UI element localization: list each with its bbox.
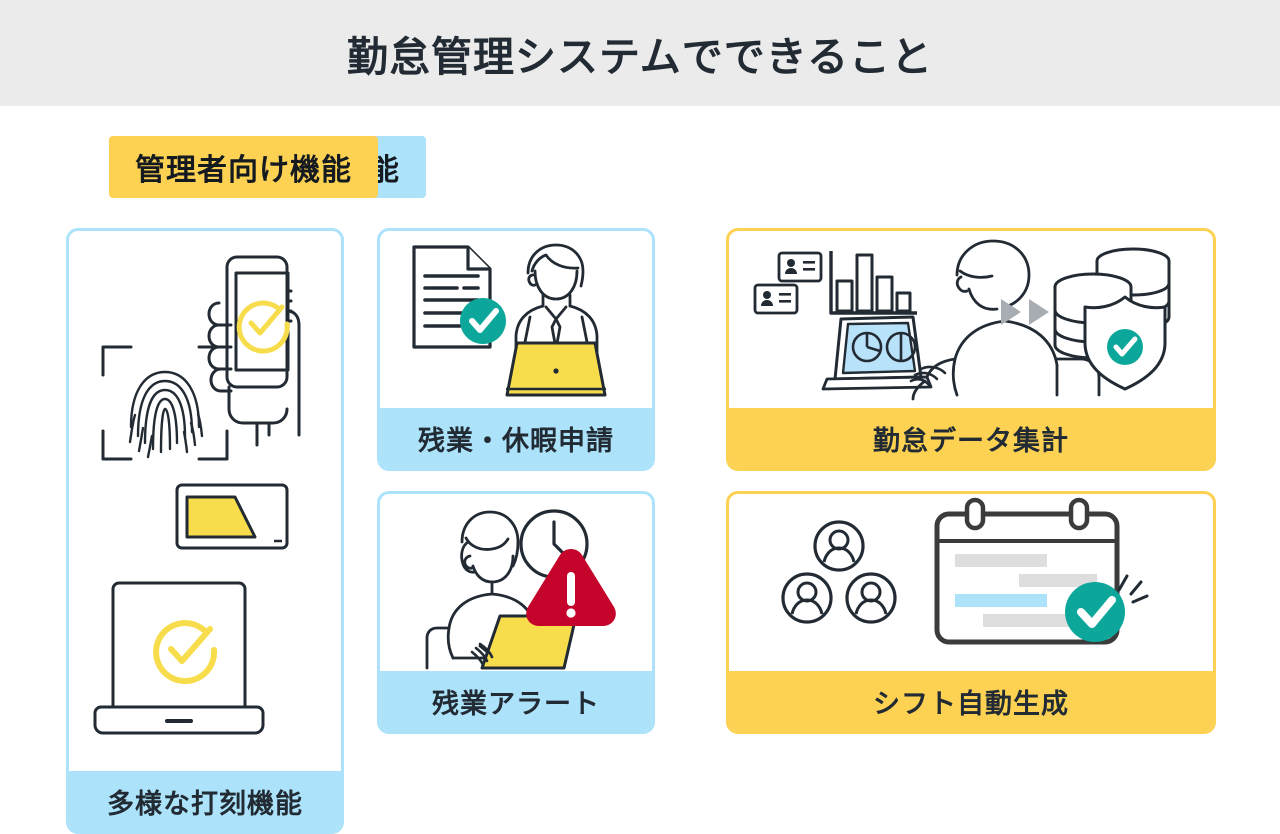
- card-label-shift: シフト自動生成: [729, 671, 1213, 731]
- feature-card-request[interactable]: 残業・休暇申請: [377, 228, 655, 471]
- section-header-admin: 管理者向け機能: [109, 136, 378, 198]
- card-label-punch: 多様な打刻機能: [69, 771, 341, 831]
- feature-board: 従業員向け機能 管理者向け機能: [0, 106, 1280, 760]
- feature-card-shift[interactable]: シフト自動生成: [726, 491, 1216, 734]
- card-label-alert: 残業アラート: [380, 671, 652, 731]
- card-label-request: 残業・休暇申請: [380, 408, 652, 468]
- request-illustration-svg: [380, 231, 652, 408]
- card-illustration-shift: [729, 494, 1213, 671]
- page-header: 勤怠管理システムでできること: [0, 0, 1280, 106]
- card-illustration-request: [380, 231, 652, 408]
- yellow-laptop-icon: [506, 343, 606, 395]
- fingerprint-scan-icon: [103, 347, 227, 459]
- alert-illustration-svg: [380, 494, 652, 671]
- punch-illustration-svg: [69, 231, 341, 771]
- phone-check-mark-icon: [239, 303, 287, 351]
- card-label-aggregation: 勤怠データ集計: [729, 408, 1213, 468]
- feature-card-alert[interactable]: 残業アラート: [377, 491, 655, 734]
- section-chip-admin-label: 管理者向け機能: [109, 136, 378, 198]
- sparkle-icon: [1119, 576, 1147, 602]
- teal-check-badge-icon: [460, 298, 506, 344]
- bar-chart-icon: [831, 251, 917, 313]
- user-avatar-icon: [783, 522, 895, 622]
- ic-card-reader-icon: [177, 485, 287, 548]
- card-illustration-alert: [380, 494, 652, 671]
- page-title: 勤怠管理システムでできること: [347, 23, 933, 83]
- shield-icon: [1085, 297, 1165, 389]
- shift-illustration-svg: [729, 494, 1213, 671]
- teal-check-badge-icon: [1065, 582, 1125, 642]
- card-illustration-punch: [69, 231, 341, 771]
- feature-card-aggregation[interactable]: 勤怠データ集計: [726, 228, 1216, 471]
- card-illustration-aggregation: [729, 231, 1213, 408]
- feature-card-punch[interactable]: 多様な打刻機能: [66, 228, 344, 834]
- aggregation-illustration-svg: [729, 231, 1213, 408]
